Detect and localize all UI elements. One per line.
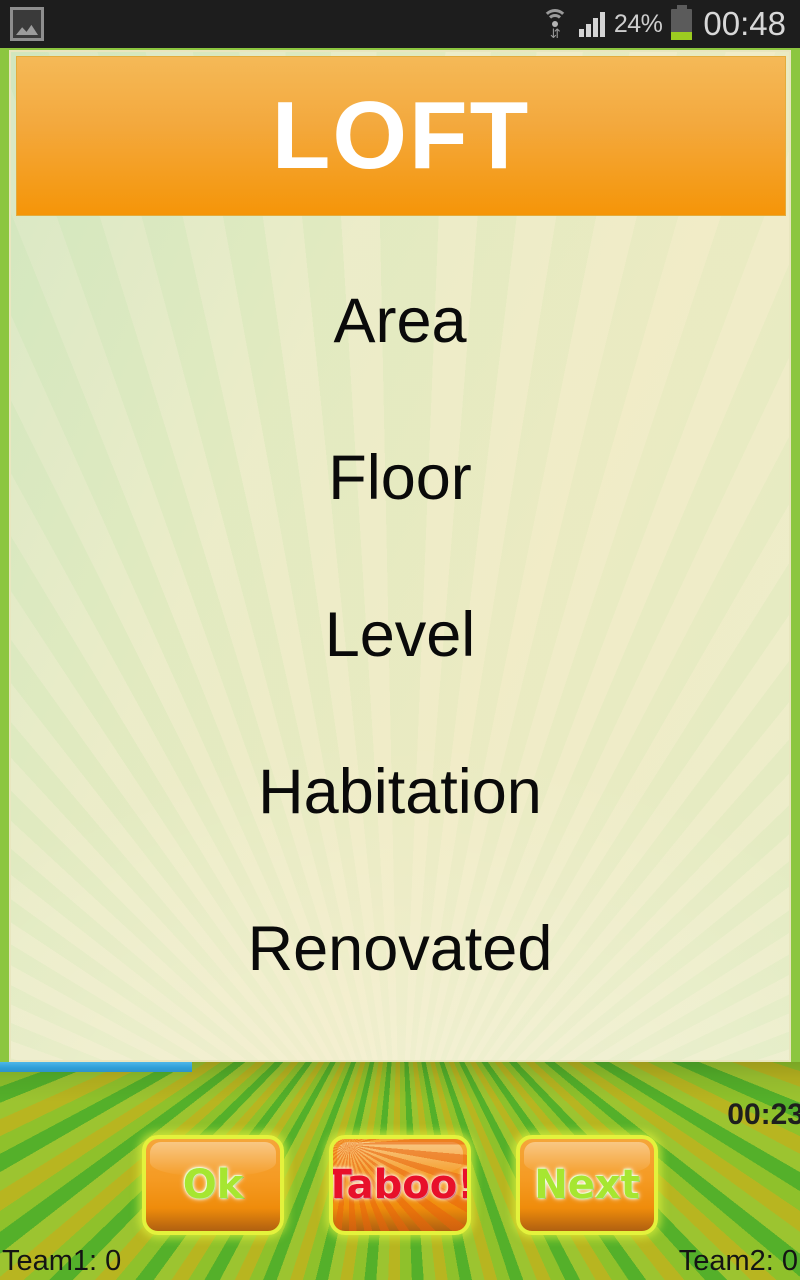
taboo-word: Habitation <box>258 759 542 825</box>
secret-word-header: LOFT <box>16 56 786 216</box>
countdown-timer: 00:23 <box>727 1098 800 1132</box>
taboo-word-list: Area Floor Level Habitation Renovated <box>11 224 789 1054</box>
team2-score-label: Team2: 0 <box>679 1245 798 1278</box>
battery-percent-label: 24% <box>614 10 663 39</box>
android-status-bar: ⇵ 24% 00:48 <box>0 0 800 48</box>
battery-icon <box>671 9 692 40</box>
taboo-button[interactable]: Taboo! <box>329 1135 471 1235</box>
ok-button-label: Ok <box>183 1165 244 1205</box>
status-bar-left-icons <box>0 7 44 41</box>
action-button-row: Ok Taboo! Next <box>0 1135 800 1235</box>
round-progress-fill <box>0 1062 192 1072</box>
taboo-word: Renovated <box>248 916 553 982</box>
next-button-label: Next <box>534 1165 640 1205</box>
cellular-signal-icon <box>579 11 605 37</box>
next-button[interactable]: Next <box>516 1135 658 1235</box>
status-bar-clock: 00:48 <box>703 5 786 43</box>
taboo-word: Level <box>325 602 476 668</box>
taboo-word: Area <box>333 288 466 354</box>
status-bar-right-icons: ⇵ 24% 00:48 <box>540 5 800 43</box>
gallery-icon <box>10 7 44 41</box>
app-screen: ⇵ 24% 00:48 LOFT Area Floor Level Habita… <box>0 0 800 1280</box>
taboo-button-label: Taboo! <box>329 1165 471 1205</box>
team1-score-label: Team1: 0 <box>2 1245 121 1278</box>
wifi-icon: ⇵ <box>540 7 570 41</box>
word-card: LOFT Area Floor Level Habitation Renovat… <box>9 50 791 1062</box>
ok-button[interactable]: Ok <box>142 1135 284 1235</box>
secret-word-label: LOFT <box>272 88 531 184</box>
taboo-word: Floor <box>328 445 472 511</box>
round-progress-bar[interactable] <box>0 1062 800 1072</box>
